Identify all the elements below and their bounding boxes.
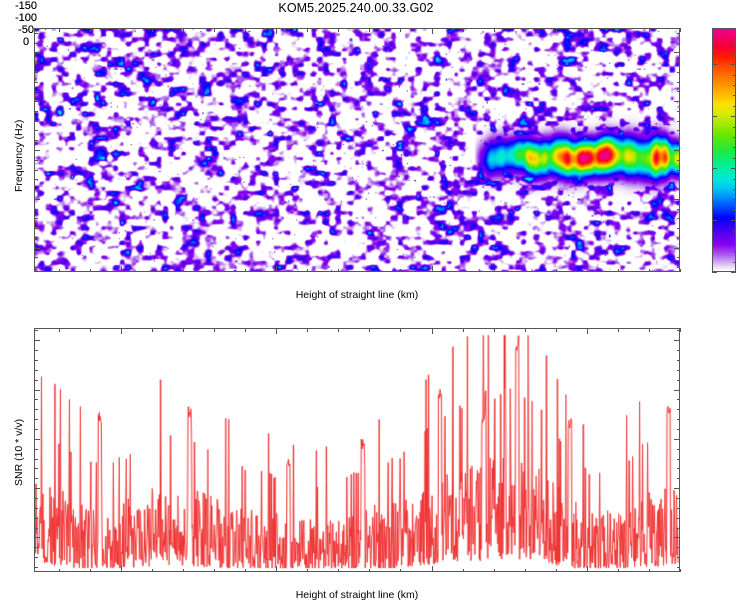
snr-y-tick-labels: 100200300400500 xyxy=(0,0,750,600)
figure-root: KOM5.2025.240.00.33.G02 Frequency (Hz) H… xyxy=(0,0,750,600)
